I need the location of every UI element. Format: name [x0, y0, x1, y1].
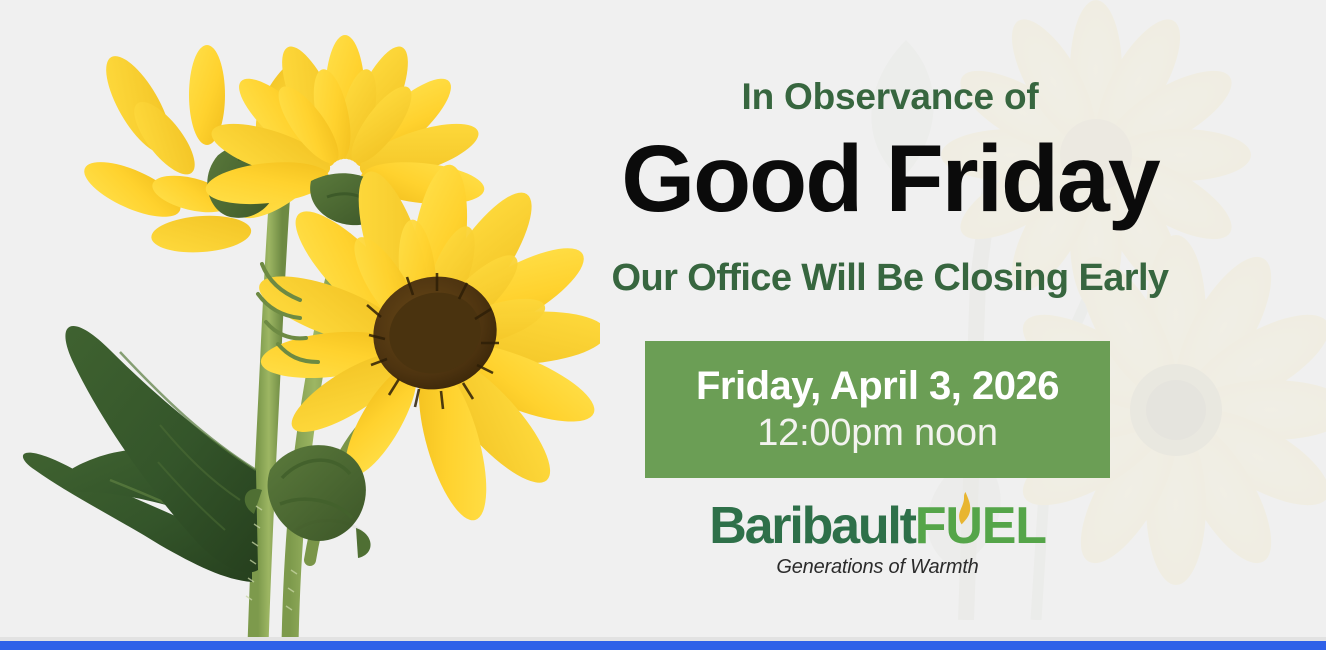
baribault-fuel-logo[interactable]: BaribaultFUEL Generations of Warmth — [645, 500, 1110, 605]
closing-subtitle: Our Office Will Be Closing Early — [560, 258, 1220, 300]
logo-tagline: Generations of Warmth — [776, 556, 978, 579]
closing-date-panel: Friday, April 3, 2026 12:00pm noon — [645, 341, 1110, 478]
holiday-title: Good Friday — [560, 130, 1220, 230]
logo-wordmark: BaribaultFUEL — [709, 500, 1046, 552]
bottom-accent-bar — [0, 641, 1326, 650]
closing-date: Friday, April 3, 2026 — [696, 363, 1059, 410]
logo-product-text: FUEL — [915, 497, 1046, 555]
observance-eyebrow: In Observance of — [560, 77, 1220, 118]
closing-time: 12:00pm noon — [757, 411, 998, 456]
logo-brand-text: Baribault — [709, 497, 915, 555]
good-friday-notice-banner: In Observance of Good Friday Our Office … — [0, 0, 1326, 650]
sunflowers-photo — [0, 0, 600, 645]
